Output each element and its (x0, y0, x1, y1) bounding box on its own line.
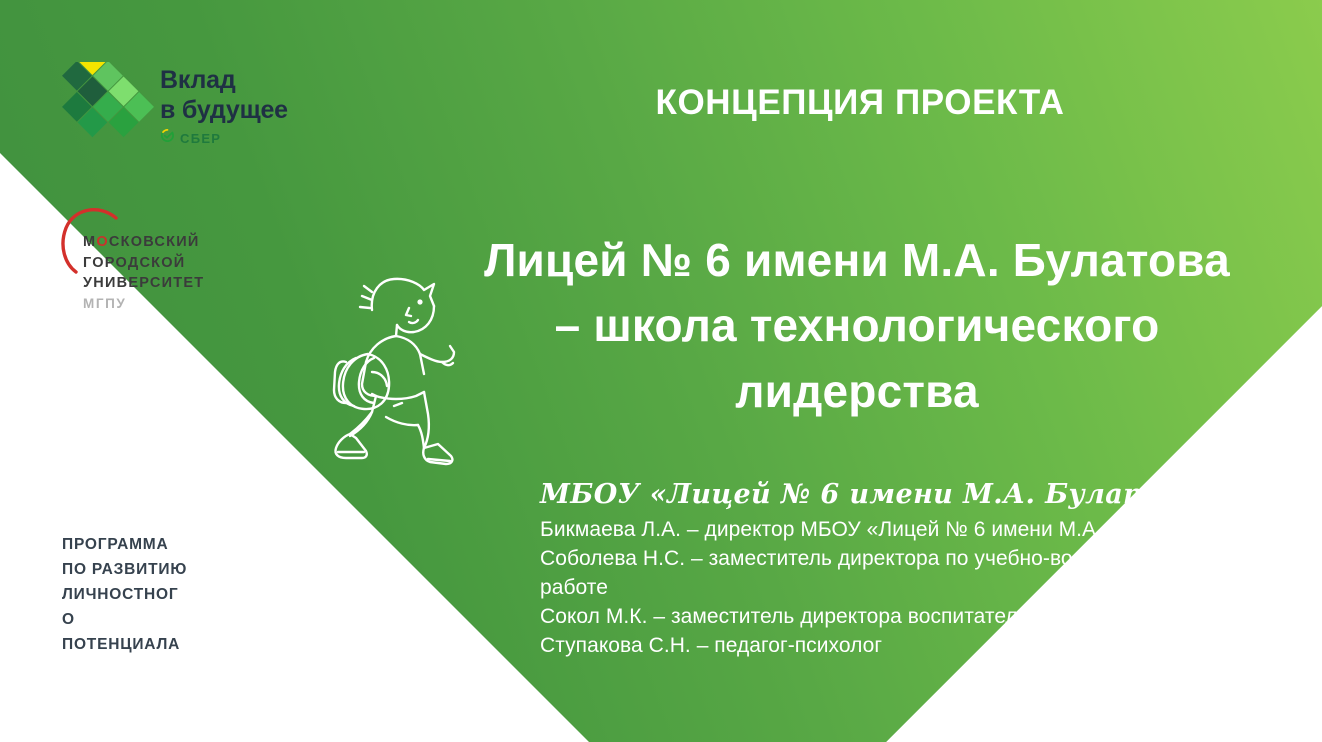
credits-person: Бикмаева Л.А. – директор МБОУ «Лицей № 6… (540, 516, 1292, 545)
credits-person: Сокол М.К. – заместитель директора воспи… (540, 603, 1292, 632)
mgpu-wordmark: МОСКОВСКИЙ ГОРОДСКОЙ УНИВЕРСИТЕТ МГПУ (83, 232, 204, 313)
mgpu-line-1-accent: О (96, 234, 109, 250)
program-line: ПО РАЗВИТИЮ (62, 557, 252, 582)
program-line: ПРОГРАММА (62, 532, 252, 557)
credits-block: МБОУ «Лицей № 6 имени М.А. Булатова» Бик… (540, 478, 1292, 661)
main-title-line-2: – школа технологического (428, 293, 1286, 358)
program-line: ЛИЧНОСТНОГ (62, 582, 252, 607)
sber-label: СБЕР (180, 131, 221, 146)
slide-header-title: КОНЦЕПЦИЯ ПРОЕКТА (430, 84, 1290, 123)
heart-diamond-mark (60, 62, 156, 154)
slide-main-title: Лицей № 6 имени М.А. Булатова – школа те… (428, 228, 1286, 424)
mgpu-line-1: МОСКОВСКИЙ (83, 232, 204, 253)
mgpu-line-1-suffix: СКОВСКИЙ (109, 234, 200, 250)
credits-organization: МБОУ «Лицей № 6 имени М.А. Булатова» (540, 478, 1292, 512)
vklad-wordmark: Вклад в будущее (160, 66, 310, 125)
vklad-line-2: в будущее (160, 96, 310, 126)
vklad-line-1: Вклад (160, 66, 310, 96)
mgpu-line-2: ГОРОДСКОЙ (83, 253, 204, 274)
vklad-v-budushchee-logo: Вклад в будущее СБЕР (60, 62, 300, 162)
sber-ring-icon (160, 128, 175, 148)
program-description: ПРОГРАММА ПО РАЗВИТИЮ ЛИЧНОСТНОГ О ПОТЕН… (62, 532, 252, 658)
sber-sublogo: СБЕР (160, 128, 221, 148)
program-line: ПОТЕНЦИАЛА (62, 632, 252, 657)
mgpu-logo: МОСКОВСКИЙ ГОРОДСКОЙ УНИВЕРСИТЕТ МГПУ (60, 206, 260, 316)
program-line: О (62, 607, 252, 632)
mgpu-line-1-prefix: М (83, 234, 96, 250)
mgpu-line-3: УНИВЕРСИТЕТ (83, 273, 204, 294)
main-title-line-3: лидерства (428, 359, 1286, 424)
main-title-line-1: Лицей № 6 имени М.А. Булатова (428, 228, 1286, 293)
mgpu-abbreviation: МГПУ (83, 294, 204, 313)
credits-person: Соболева Н.С. – заместитель директора по… (540, 545, 1292, 574)
credits-person: Ступакова С.Н. – педагог-психолог (540, 632, 1292, 661)
presentation-slide: КОНЦЕПЦИЯ ПРОЕКТА Лицей № 6 имени М.А. Б… (0, 0, 1322, 742)
credits-person: работе (540, 574, 1292, 603)
